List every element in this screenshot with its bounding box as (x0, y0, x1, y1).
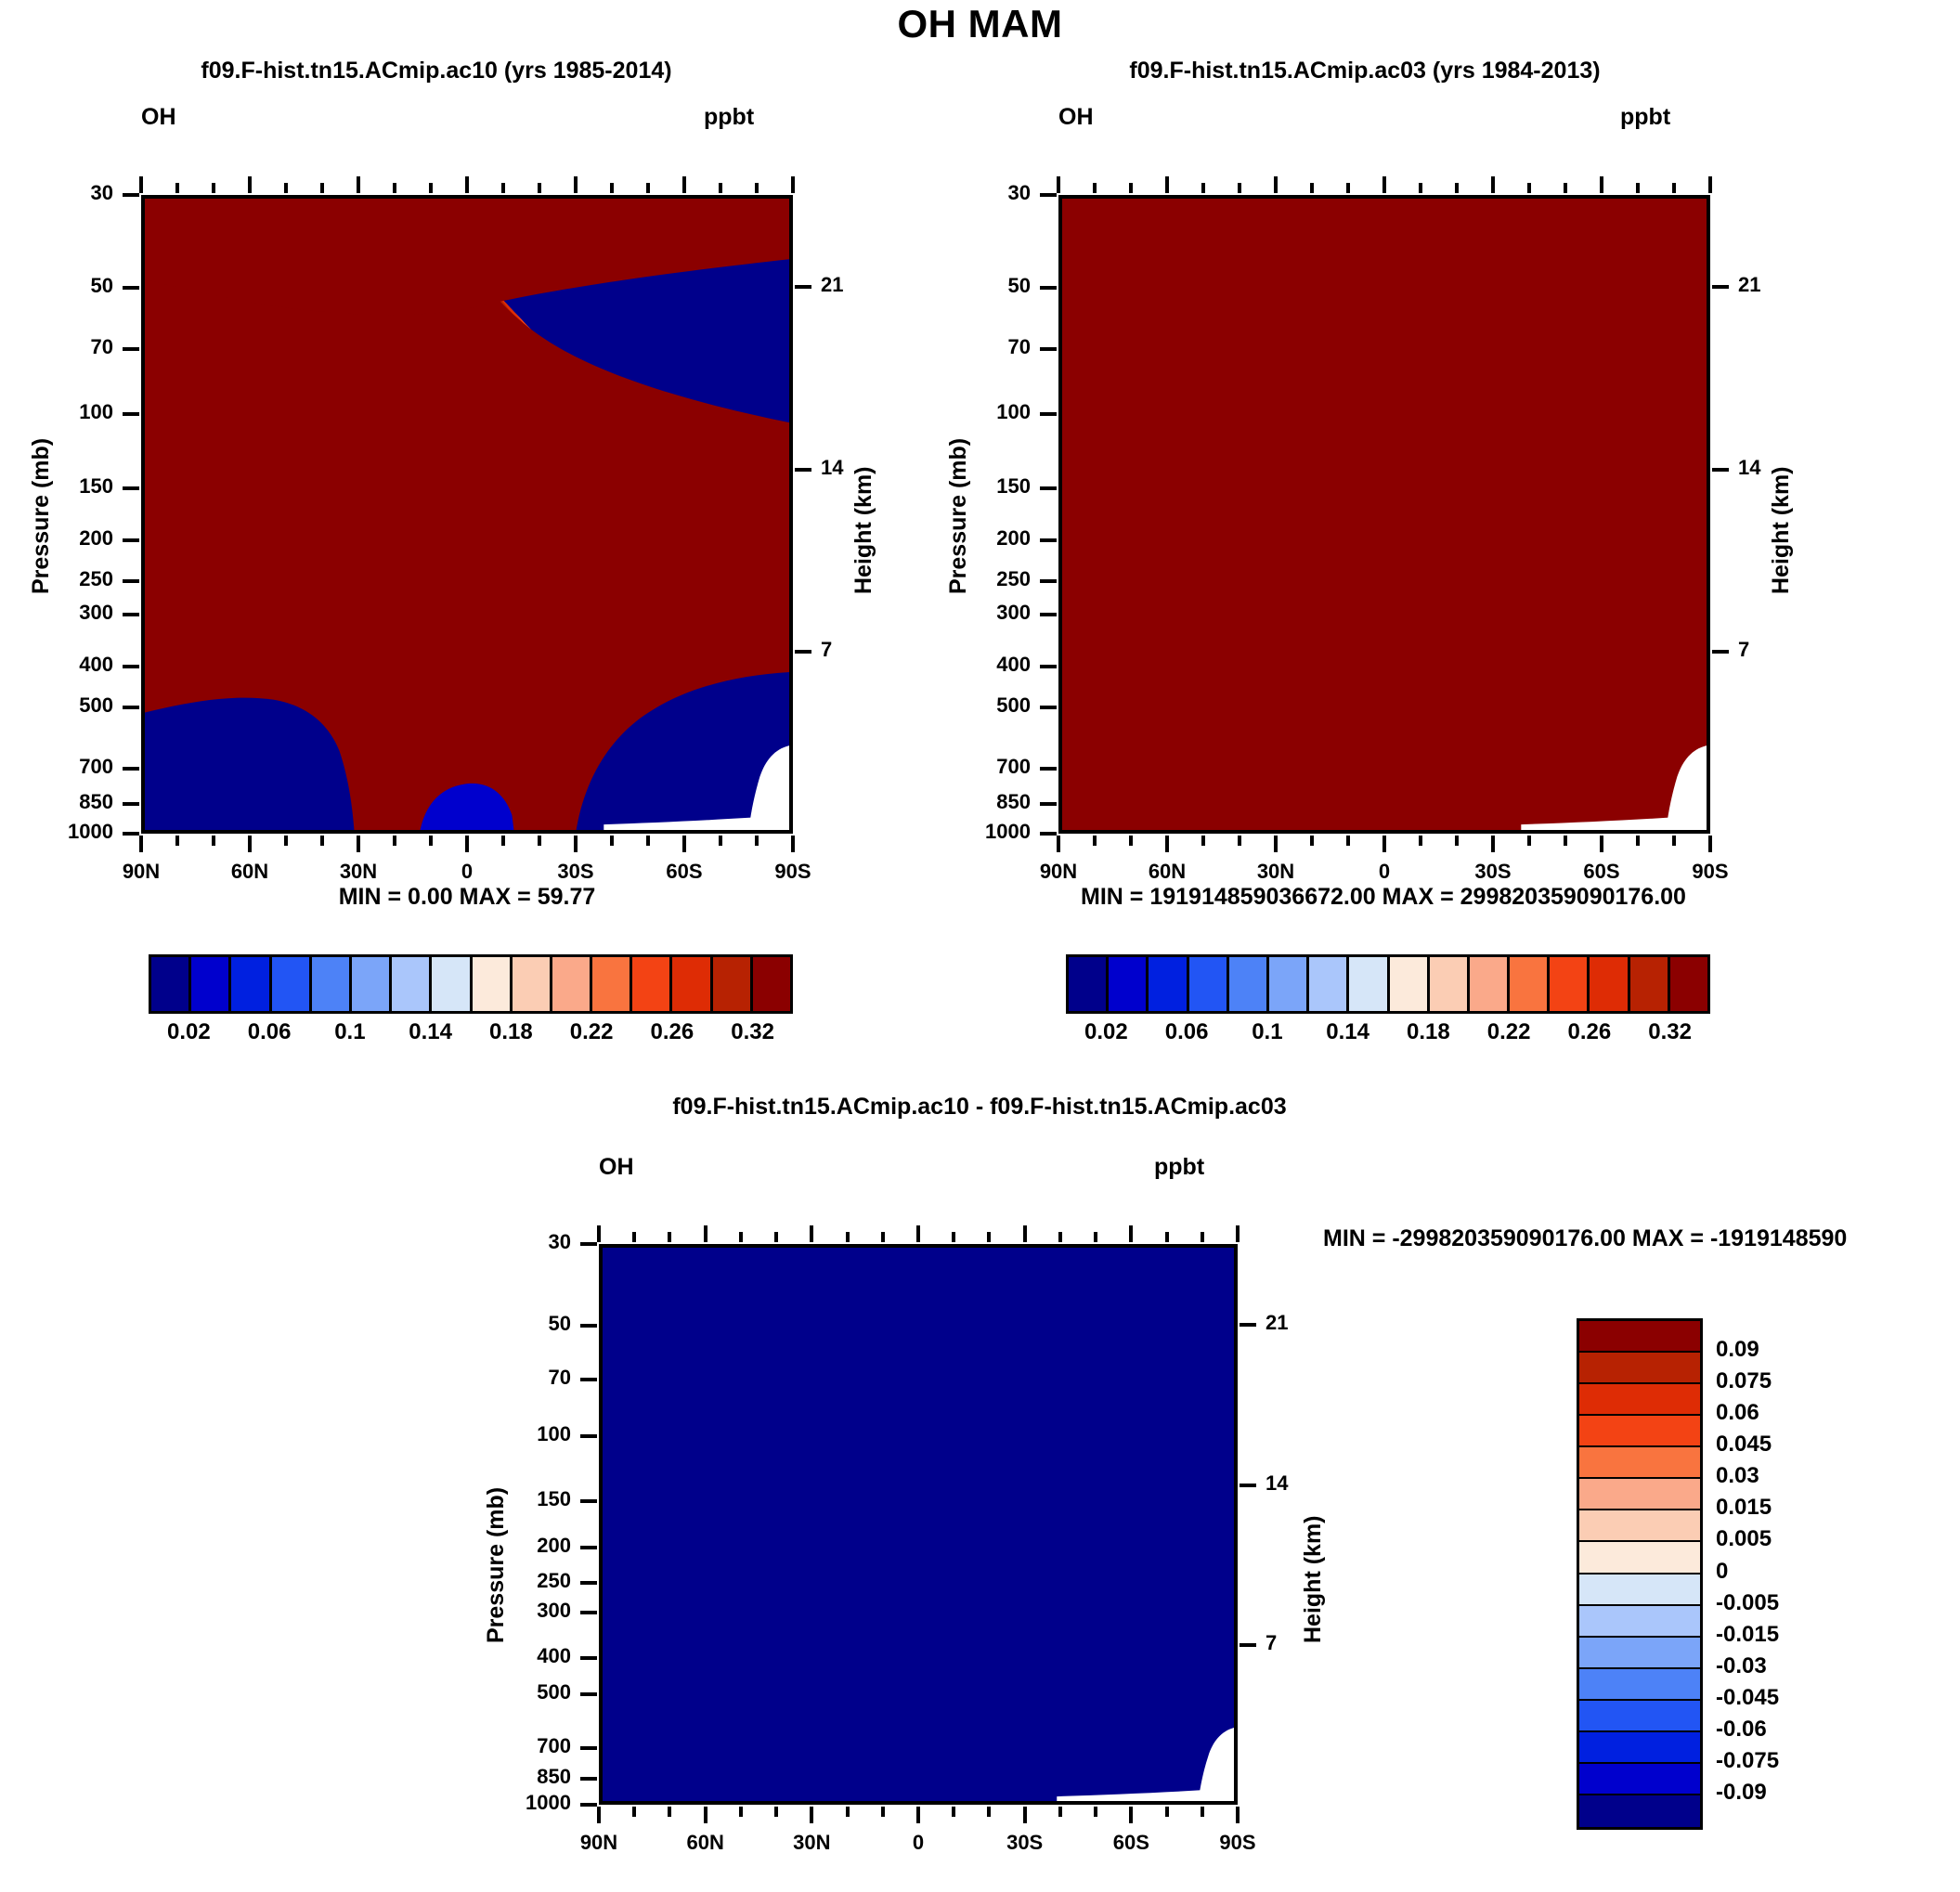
latitude-minor-tick (212, 836, 215, 846)
colorbar-vertical-labels-diff: 0.090.0750.060.0450.030.0150.0050-0.005-… (1716, 1318, 1902, 1824)
pressure-tick-label: 200 (460, 1534, 571, 1558)
pressure-tick-label: 300 (919, 601, 1031, 625)
height-tick-label: 21 (821, 273, 843, 297)
top-minor-tick (646, 183, 650, 193)
latitude-minor-tick (846, 1807, 850, 1817)
top-minor-tick (1201, 183, 1205, 193)
latitude-minor-tick (538, 836, 541, 846)
colorbar-cell (1579, 1384, 1700, 1416)
top-minor-tick (501, 183, 505, 193)
pressure-tick (123, 412, 139, 416)
latitude-tick-label: 90S (751, 860, 835, 884)
pressure-tick-label: 700 (2, 755, 113, 779)
top-tick (1057, 176, 1060, 193)
colorbar-tick-label: 0.075 (1716, 1368, 1772, 1394)
latitude-tick-label: 90N (99, 860, 183, 884)
pressure-tick (1040, 706, 1057, 709)
pressure-tick (123, 579, 139, 583)
latitude-tick-label: 30S (983, 1831, 1067, 1855)
pressure-tick-label: 50 (919, 274, 1031, 298)
pressure-tick-label: 70 (2, 335, 113, 359)
top-tick (574, 176, 578, 193)
colorbar-tick-label: 0.03 (1716, 1463, 1759, 1489)
height-tick-label: 7 (1266, 1631, 1277, 1655)
colorbar-tick-label: -0.045 (1716, 1685, 1779, 1711)
pressure-tick (1040, 538, 1057, 542)
height-tick (795, 468, 811, 472)
colorbar-tick-label: -0.015 (1716, 1622, 1779, 1648)
latitude-tick-label: 90N (557, 1831, 641, 1855)
colorbar-cell (513, 957, 552, 1011)
pressure-tick (580, 1324, 597, 1328)
latitude-minor-tick (952, 1807, 955, 1817)
panel1-variable-label: OH (141, 104, 176, 131)
latitude-tick-label: 60S (1560, 860, 1643, 884)
top-minor-tick (1419, 183, 1422, 193)
top-tick (1236, 1225, 1240, 1242)
pressure-tick (1040, 286, 1057, 290)
colorbar-tick-label: 0.06 (1165, 1019, 1209, 1045)
colorbar-cell (312, 957, 352, 1011)
panel3-y2axis-title: Height (km) (1300, 1516, 1327, 1644)
latitude-minor-tick (1346, 836, 1350, 846)
colorbar-tick-label: 0.22 (570, 1019, 614, 1045)
top-minor-tick (1310, 183, 1314, 193)
pressure-tick (1040, 802, 1057, 806)
latitude-tick (704, 1807, 707, 1823)
panel3-contour-field (603, 1248, 1234, 1801)
top-minor-tick (1129, 183, 1133, 193)
top-tick (1274, 176, 1278, 193)
panel2-minmax: MIN = 191914859036672.00 MAX = 299820359… (966, 884, 1801, 911)
top-minor-tick (755, 183, 759, 193)
colorbar-tick-label: 0.14 (409, 1019, 452, 1045)
latitude-tick-label: 0 (425, 860, 509, 884)
pressure-tick-label: 200 (919, 526, 1031, 551)
colorbar-cell (1579, 1447, 1700, 1479)
latitude-minor-tick (610, 836, 614, 846)
top-minor-tick (739, 1232, 743, 1242)
pressure-tick-label: 30 (460, 1230, 571, 1254)
latitude-tick (1057, 836, 1060, 852)
top-minor-tick (1201, 1232, 1204, 1242)
top-tick (1382, 176, 1386, 193)
latitude-minor-tick (1058, 1807, 1062, 1817)
latitude-tick-label: 90S (1668, 860, 1752, 884)
latitude-minor-tick (1419, 836, 1422, 846)
colorbar-cell (1550, 957, 1590, 1011)
height-tick-label: 14 (1738, 456, 1760, 480)
top-minor-tick (538, 183, 541, 193)
colorbar-cell (1579, 1669, 1700, 1701)
colorbar-cell (1309, 957, 1349, 1011)
pressure-tick-label: 250 (460, 1569, 571, 1593)
latitude-minor-tick (1636, 836, 1640, 846)
pressure-tick-label: 250 (2, 567, 113, 591)
contour-plot-ac10[interactable] (141, 195, 793, 834)
pressure-tick-label: 50 (2, 274, 113, 298)
top-minor-tick (1564, 183, 1567, 193)
pressure-tick-label: 500 (460, 1680, 571, 1704)
pressure-tick (1040, 486, 1057, 490)
colorbar-tick-label: 0.18 (1407, 1019, 1450, 1045)
colorbar-tick-label: -0.09 (1716, 1780, 1767, 1806)
pressure-tick (123, 706, 139, 709)
colorbar-vertical-diff (1577, 1318, 1703, 1830)
panel3-unit-label: ppbt (1154, 1154, 1204, 1181)
top-minor-tick (1058, 1232, 1062, 1242)
colorbar-cell (713, 957, 753, 1011)
colorbar-tick-label: -0.075 (1716, 1748, 1779, 1774)
colorbar-tick-label: -0.005 (1716, 1590, 1779, 1616)
pressure-tick (123, 665, 139, 668)
colorbar-tick-label: 0.06 (248, 1019, 292, 1045)
pressure-tick-label: 400 (460, 1644, 571, 1668)
contour-plot-diff[interactable] (599, 1244, 1238, 1805)
colorbar-cell (1109, 957, 1149, 1011)
colorbar-cell (1579, 1732, 1700, 1764)
colorbar-cell (1590, 957, 1629, 1011)
panel3-minmax: MIN = -299820359090176.00 MAX = -1919148… (1323, 1225, 1847, 1252)
colorbar-tick-label: 0.32 (1648, 1019, 1692, 1045)
pressure-tick (1040, 347, 1057, 351)
top-minor-tick (1636, 183, 1640, 193)
pressure-tick (580, 1803, 597, 1807)
pressure-tick-label: 1000 (2, 820, 113, 844)
colorbar-tick-label: 0.09 (1716, 1337, 1759, 1363)
latitude-minor-tick (501, 836, 505, 846)
colorbar-cell (672, 957, 712, 1011)
latitude-minor-tick (987, 1807, 991, 1817)
top-minor-tick (320, 183, 324, 193)
panel1-minmax: MIN = 0.00 MAX = 59.77 (141, 884, 793, 911)
pressure-tick (123, 286, 139, 290)
latitude-tick (682, 836, 686, 852)
latitude-minor-tick (1129, 836, 1133, 846)
panel-title-ac10: f09.F-hist.tn15.ACmip.ac10 (yrs 1985-201… (51, 58, 822, 84)
pressure-tick-label: 70 (919, 335, 1031, 359)
colorbar-cell (1390, 957, 1430, 1011)
pressure-tick (1040, 193, 1057, 197)
pressure-tick (123, 613, 139, 616)
pressure-tick-label: 70 (460, 1366, 571, 1390)
height-tick (795, 285, 811, 289)
top-tick (916, 1225, 920, 1242)
latitude-tick (1708, 836, 1712, 852)
colorbar-cell (191, 957, 231, 1011)
panel-title-ac03: f09.F-hist.tn15.ACmip.ac03 (yrs 1984-201… (980, 58, 1750, 84)
pressure-tick (123, 767, 139, 771)
top-minor-tick (1165, 1232, 1169, 1242)
latitude-minor-tick (1093, 836, 1097, 846)
pressure-tick-label: 100 (919, 400, 1031, 424)
colorbar-horizontal-ac03 (1066, 954, 1710, 1014)
top-minor-tick (1238, 183, 1241, 193)
pressure-tick (1040, 767, 1057, 771)
colorbar-cell (1579, 1542, 1700, 1574)
pressure-tick-label: 100 (460, 1422, 571, 1446)
height-tick (1240, 1323, 1256, 1327)
colorbar-tick-label: 0.32 (731, 1019, 774, 1045)
top-minor-tick (175, 183, 179, 193)
colorbar-cell (1579, 1321, 1700, 1353)
colorbar-cell (231, 957, 271, 1011)
colorbar-cell (1189, 957, 1229, 1011)
top-minor-tick (1346, 183, 1350, 193)
latitude-minor-tick (1201, 836, 1205, 846)
pressure-tick (580, 1378, 597, 1381)
height-tick-label: 21 (1266, 1311, 1288, 1335)
pressure-tick-label: 850 (460, 1765, 571, 1789)
top-tick (597, 1225, 601, 1242)
height-tick (795, 650, 811, 654)
pressure-tick-label: 1000 (460, 1791, 571, 1815)
top-minor-tick (1455, 183, 1459, 193)
latitude-tick-label: 30N (1234, 860, 1317, 884)
latitude-minor-tick (1527, 836, 1531, 846)
colorbar-cell (392, 957, 432, 1011)
height-tick-label: 7 (1738, 638, 1749, 662)
height-tick (1240, 1484, 1256, 1487)
pressure-tick (123, 193, 139, 197)
latitude-tick (810, 1807, 813, 1823)
latitude-minor-tick (1201, 1807, 1204, 1817)
colorbar-cell (1069, 957, 1109, 1011)
pressure-tick-label: 30 (919, 181, 1031, 205)
top-minor-tick (1672, 183, 1676, 193)
pressure-tick-label: 200 (2, 526, 113, 551)
colorbar-cell (1229, 957, 1269, 1011)
pressure-tick (580, 1746, 597, 1750)
colorbar-tick-label: 0.18 (489, 1019, 533, 1045)
pressure-tick-label: 150 (919, 474, 1031, 499)
colorbar-tick-label: 0.22 (1487, 1019, 1531, 1045)
pressure-tick-label: 300 (2, 601, 113, 625)
latitude-minor-tick (1238, 836, 1241, 846)
panel1-yaxis-title: Pressure (mb) (28, 438, 55, 594)
latitude-minor-tick (1672, 836, 1676, 846)
pressure-tick (1040, 412, 1057, 416)
latitude-tick (248, 836, 252, 852)
height-tick (1240, 1643, 1256, 1647)
panel1-unit-label: ppbt (704, 104, 754, 131)
latitude-tick (1165, 836, 1169, 852)
pressure-tick-label: 700 (919, 755, 1031, 779)
pressure-tick (580, 1656, 597, 1660)
pressure-tick-label: 150 (2, 474, 113, 499)
latitude-tick-label: 60S (643, 860, 726, 884)
top-minor-tick (987, 1232, 991, 1242)
colorbar-horizontal-ac10 (149, 954, 793, 1014)
colorbar-cell (1579, 1479, 1700, 1510)
colorbar-cell (1579, 1575, 1700, 1606)
pressure-tick-label: 300 (460, 1599, 571, 1623)
top-minor-tick (846, 1232, 850, 1242)
colorbar-tick-label: 0.06 (1716, 1400, 1759, 1426)
pressure-tick (580, 1611, 597, 1614)
pressure-tick-label: 50 (460, 1312, 571, 1336)
latitude-minor-tick (1165, 1807, 1169, 1817)
latitude-tick-label: 30S (1451, 860, 1535, 884)
pressure-tick (580, 1777, 597, 1781)
top-minor-tick (393, 183, 396, 193)
colorbar-cell (151, 957, 191, 1011)
panel3-variable-label: OH (599, 1154, 634, 1181)
top-tick (465, 176, 469, 193)
pressure-tick-label: 500 (919, 693, 1031, 718)
colorbar-cell (432, 957, 472, 1011)
colorbar-tick-label: 0.14 (1326, 1019, 1369, 1045)
top-minor-tick (212, 183, 215, 193)
pressure-tick (580, 1434, 597, 1438)
latitude-tick-label: 30N (317, 860, 400, 884)
colorbar-cell (1579, 1353, 1700, 1384)
height-tick-label: 14 (821, 456, 843, 480)
pressure-tick (580, 1499, 597, 1503)
panel2-contour-field (1062, 199, 1707, 830)
pressure-tick (1040, 613, 1057, 616)
latitude-tick-label: 30N (770, 1831, 853, 1855)
latitude-tick (1236, 1807, 1240, 1823)
height-tick-label: 14 (1266, 1471, 1288, 1496)
panel2-y2axis-title: Height (km) (1768, 467, 1795, 595)
latitude-tick-label: 60N (664, 1831, 747, 1855)
colorbar-tick-label: 0.02 (1084, 1019, 1128, 1045)
height-tick (1712, 650, 1729, 654)
latitude-tick-label: 0 (876, 1831, 960, 1855)
pressure-tick (123, 486, 139, 490)
colorbar-tick-label: -0.03 (1716, 1653, 1767, 1679)
colorbar-tick-label: 0.1 (1252, 1019, 1282, 1045)
latitude-tick (1491, 836, 1495, 852)
colorbar-cell (592, 957, 632, 1011)
panel2-unit-label: ppbt (1620, 104, 1670, 131)
top-tick (791, 176, 795, 193)
colorbar-cell (1579, 1701, 1700, 1732)
colorbar-cell (1579, 1795, 1700, 1827)
top-minor-tick (952, 1232, 955, 1242)
colorbar-tick-label: 0.1 (334, 1019, 365, 1045)
top-tick (1129, 1225, 1133, 1242)
latitude-tick (139, 836, 143, 852)
top-minor-tick (610, 183, 614, 193)
latitude-minor-tick (429, 836, 433, 846)
latitude-minor-tick (1455, 836, 1459, 846)
panel1-y2axis-title: Height (km) (850, 467, 877, 595)
pressure-tick (123, 347, 139, 351)
pressure-tick-label: 150 (460, 1487, 571, 1511)
latitude-minor-tick (774, 1807, 778, 1817)
colorbar-cell (1670, 957, 1707, 1011)
colorbar-tick-label: 0.045 (1716, 1432, 1772, 1458)
pressure-tick (123, 538, 139, 542)
top-minor-tick (668, 1232, 671, 1242)
pressure-tick-label: 30 (2, 181, 113, 205)
colorbar-tick-label: 0.02 (167, 1019, 211, 1045)
pressure-tick (1040, 832, 1057, 836)
colorbar-tick-label: 0.26 (1568, 1019, 1612, 1045)
latitude-tick (574, 836, 578, 852)
top-minor-tick (774, 1232, 778, 1242)
latitude-minor-tick (393, 836, 396, 846)
colorbar-tick-label: -0.06 (1716, 1717, 1767, 1743)
latitude-tick (791, 836, 795, 852)
pressure-tick-label: 250 (919, 567, 1031, 591)
latitude-tick (597, 1807, 601, 1823)
colorbar-cell (1470, 957, 1510, 1011)
panel-title-diff: f09.F-hist.tn15.ACmip.ac10 - f09.F-hist.… (330, 1094, 1629, 1121)
pressure-tick-label: 100 (2, 400, 113, 424)
top-minor-tick (1527, 183, 1531, 193)
top-minor-tick (1093, 183, 1097, 193)
latitude-tick (916, 1807, 920, 1823)
top-tick (1491, 176, 1495, 193)
latitude-minor-tick (1310, 836, 1314, 846)
top-minor-tick (429, 183, 433, 193)
colorbar-cell (1149, 957, 1188, 1011)
top-tick (357, 176, 360, 193)
colorbar-cell (1430, 957, 1470, 1011)
latitude-tick-label: 60N (208, 860, 292, 884)
colorbar-labels-ac03: 0.020.060.10.140.180.220.260.32 (1066, 1019, 1705, 1051)
pressure-tick-label: 400 (919, 653, 1031, 677)
colorbar-cell (473, 957, 513, 1011)
colorbar-labels-ac10: 0.020.060.10.140.180.220.260.32 (149, 1019, 787, 1051)
latitude-minor-tick (719, 836, 722, 846)
colorbar-tick-label: 0 (1716, 1559, 1728, 1585)
colorbar-cell (1579, 1416, 1700, 1447)
top-tick (1165, 176, 1169, 193)
top-tick (810, 1225, 813, 1242)
top-tick (1023, 1225, 1027, 1242)
pressure-tick-label: 850 (919, 790, 1031, 814)
colorbar-cell (1269, 957, 1309, 1011)
latitude-minor-tick (632, 1807, 636, 1817)
panel2-yaxis-title: Pressure (mb) (945, 438, 972, 594)
colorbar-tick-label: 0.26 (651, 1019, 694, 1045)
height-tick-label: 7 (821, 638, 832, 662)
contour-plot-ac03[interactable] (1058, 195, 1710, 834)
colorbar-cell (1579, 1510, 1700, 1542)
latitude-minor-tick (668, 1807, 671, 1817)
latitude-minor-tick (1094, 1807, 1097, 1817)
panel2-variable-label: OH (1058, 104, 1094, 131)
latitude-tick (1129, 1807, 1133, 1823)
colorbar-tick-label: 0.005 (1716, 1526, 1772, 1552)
pressure-tick (123, 802, 139, 806)
colorbar-tick-label: 0.015 (1716, 1495, 1772, 1521)
top-tick (139, 176, 143, 193)
height-tick-label: 21 (1738, 273, 1760, 297)
height-tick (1712, 468, 1729, 472)
colorbar-cell (1630, 957, 1670, 1011)
page-title: OH MAM (0, 2, 1960, 46)
latitude-tick (357, 836, 360, 852)
latitude-tick (1274, 836, 1278, 852)
latitude-tick (465, 836, 469, 852)
colorbar-cell (1579, 1606, 1700, 1638)
colorbar-cell (352, 957, 392, 1011)
top-tick (704, 1225, 707, 1242)
latitude-tick (1023, 1807, 1027, 1823)
panel3-yaxis-title: Pressure (mb) (483, 1487, 510, 1643)
colorbar-cell (632, 957, 672, 1011)
latitude-tick-label: 90N (1017, 860, 1100, 884)
pressure-tick-label: 1000 (919, 820, 1031, 844)
top-minor-tick (632, 1232, 636, 1242)
pressure-tick-label: 700 (460, 1734, 571, 1758)
top-minor-tick (1094, 1232, 1097, 1242)
